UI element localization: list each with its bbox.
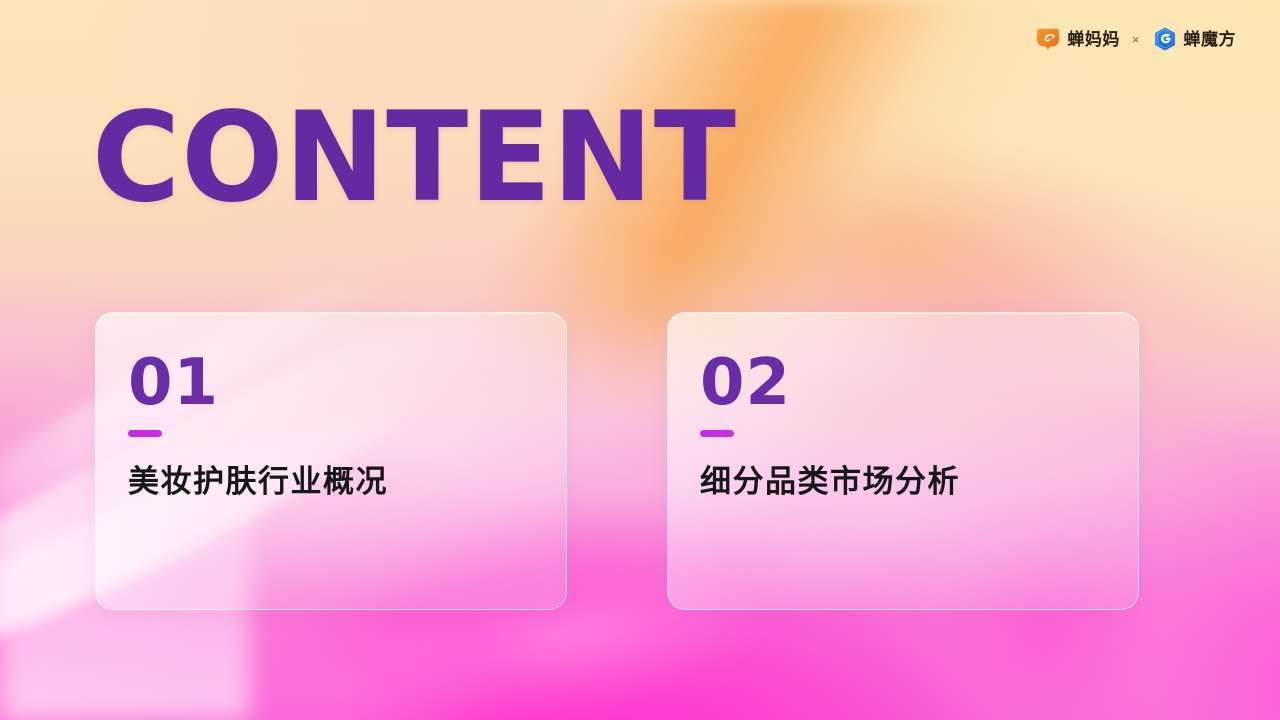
agenda-card-01-label: 美妆护肤行业概况 (128, 464, 566, 501)
background-petal-left (180, 600, 510, 720)
agenda-card-01[interactable]: 01 美妆护肤行业概况 (95, 312, 567, 610)
chanmama-logo-icon (1035, 26, 1061, 52)
agenda-card-02-label: 细分品类市场分析 (700, 464, 1138, 501)
page-title: CONTENT (92, 96, 737, 220)
brand-chanmofang: 蝉魔方 (1152, 26, 1237, 52)
agenda-card-02-accent-rule (700, 430, 734, 437)
agenda-card-02-number: 02 (700, 357, 1138, 411)
agenda-card-01-number: 01 (128, 357, 566, 411)
chanmofang-logo-text: 蝉魔方 (1184, 31, 1237, 48)
chanmama-logo-text: 蝉妈妈 (1067, 31, 1120, 48)
agenda-card-list: 01 美妆护肤行业概况 02 细分品类市场分析 (95, 312, 1139, 610)
brand-separator: × (1131, 33, 1141, 46)
agenda-card-02-content: 02 细分品类市场分析 (700, 357, 1138, 501)
agenda-card-01-content: 01 美妆护肤行业概况 (128, 357, 566, 501)
brand-lockup: 蝉妈妈 × 蝉魔方 (1035, 26, 1236, 52)
chanmofang-logo-icon (1152, 26, 1178, 52)
brand-chanmama: 蝉妈妈 (1035, 26, 1120, 52)
agenda-card-01-accent-rule (128, 430, 162, 437)
agenda-card-02[interactable]: 02 细分品类市场分析 (667, 312, 1139, 610)
content-slide: 蝉妈妈 × 蝉魔方 CONTENT 01 (0, 0, 1280, 720)
